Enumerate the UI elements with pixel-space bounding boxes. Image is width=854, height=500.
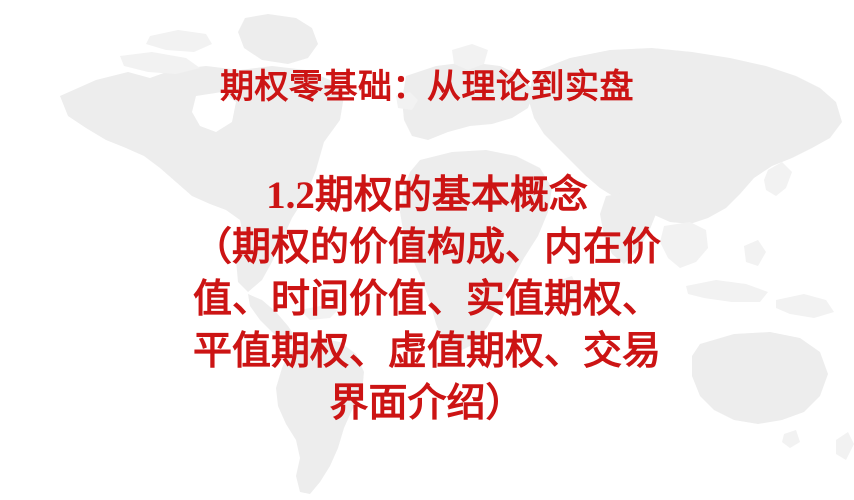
slide-subtitle: 1.2期权的基本概念 （期权的价值构成、内在价 值、时间价值、实值期权、 平值期…: [0, 170, 854, 430]
subtitle-line-5: 界面介绍）: [0, 378, 854, 430]
slide-title: 期权零基础：从理论到实盘: [0, 66, 854, 110]
subtitle-line-4: 平值期权、虚值期权、交易: [0, 326, 854, 378]
slide-content: 期权零基础：从理论到实盘 1.2期权的基本概念 （期权的价值构成、内在价 值、时…: [0, 0, 854, 500]
subtitle-line-1: 1.2期权的基本概念: [0, 170, 854, 222]
subtitle-line-2: （期权的价值构成、内在价: [0, 222, 854, 274]
subtitle-line-3: 值、时间价值、实值期权、: [0, 274, 854, 326]
slide-canvas: 期权零基础：从理论到实盘 1.2期权的基本概念 （期权的价值构成、内在价 值、时…: [0, 0, 854, 500]
